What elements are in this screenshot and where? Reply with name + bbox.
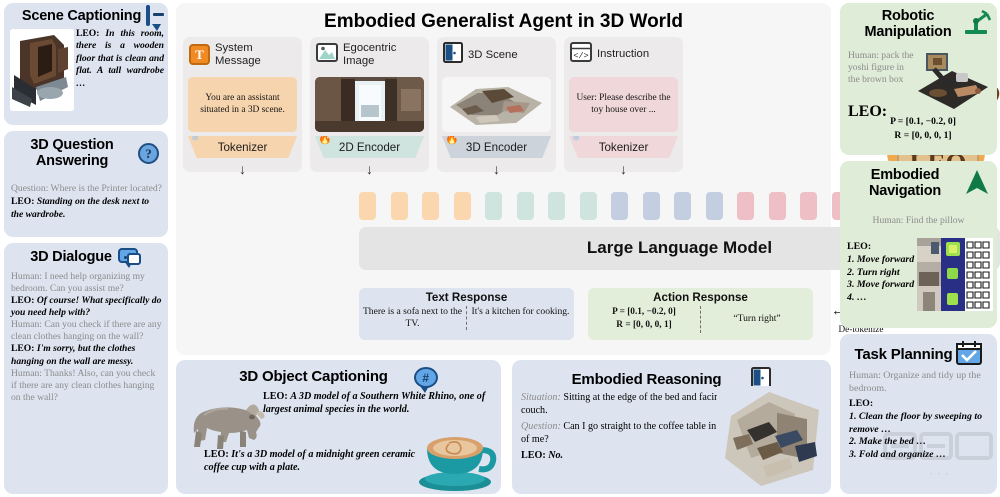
panel-3d-object-captioning: 3D Object Captioning # LEO: A 3D model o… <box>176 360 501 494</box>
token-chip <box>580 192 597 220</box>
dialogue-turns: Human: I need help organizing my bedroom… <box>11 271 163 404</box>
chat-bubble-icon <box>146 7 150 25</box>
encoder-label: Tokenizer <box>218 141 268 154</box>
input-card-instruction: </> Instruction User: Please describe th… <box>564 37 683 172</box>
panel-task-planning: Task Planning Human: Organize and tidy u… <box>840 334 997 494</box>
object-captioning-header: 3D Object Captioning # <box>176 367 501 388</box>
leo-prefix: LEO: <box>263 391 288 402</box>
encoder-tokenizer: ❄ Tokenizer <box>188 136 297 158</box>
leo-prefix: LEO: <box>76 28 99 39</box>
token-chip <box>769 192 786 220</box>
robotic-p: P = [0.1, −0.2, 0] <box>858 115 988 129</box>
dialogue-header: 3D Dialogue <box>4 248 168 267</box>
robotic-human-instruction: Human: pack the yoshi figure in the brow… <box>848 50 916 87</box>
card-header: </> Instruction <box>564 37 683 67</box>
card-label: System Message <box>215 42 297 67</box>
navigation-human-instruction: Human: Find the pillow <box>840 215 997 226</box>
card-label: 3D Scene <box>468 49 518 62</box>
letter-t-icon: T <box>189 44 210 65</box>
panel-title: 3D Object Captioning <box>239 369 388 386</box>
task-planning-header: Task Planning <box>840 340 997 370</box>
encoder-2d: 🔥 2D Encoder <box>315 136 424 158</box>
turn-speaker: LEO: <box>11 343 37 354</box>
token-chip <box>674 192 691 220</box>
card-content-image <box>315 77 424 132</box>
flow-arrow-icon: ↓ <box>310 161 429 177</box>
answer-line: LEO: No. <box>521 449 743 462</box>
room-scan-thumbnail <box>717 386 829 492</box>
flow-arrow-icon: ↓ <box>437 161 556 177</box>
dialogue-turn: Human: Can you check if there are any cl… <box>11 319 163 343</box>
robot-arm-photo <box>914 47 992 111</box>
embodied-reasoning-body: Situation: Sitting at the edge of the be… <box>521 391 743 463</box>
leo-prefix: LEO: <box>849 398 991 411</box>
token-chip <box>517 192 534 220</box>
card-content-pointcloud <box>442 77 551 132</box>
flame-icon: 🔥 <box>445 132 459 145</box>
left-column: Scene Captioning L <box>0 0 172 497</box>
text-response-block: Text Response There is a sofa next to th… <box>359 288 574 340</box>
door-icon <box>443 42 463 68</box>
token-chip <box>391 192 408 220</box>
svg-text:</>: </> <box>573 51 588 61</box>
token-chip <box>737 192 754 220</box>
token-chip <box>485 192 502 220</box>
panel-3d-question-answering: 3D Question Answering ? Question: Where … <box>4 131 168 237</box>
image-icon <box>316 42 338 68</box>
encoder-label: Tokenizer <box>599 141 649 154</box>
token-chip <box>643 192 660 220</box>
page-title: Embodied Generalist Agent in 3D World <box>176 11 831 33</box>
leo-prefix: LEO: <box>204 449 229 460</box>
question-label: Question: <box>521 421 561 432</box>
card-content-text: User: Please describe the toy house over… <box>569 77 678 132</box>
card-header: Egocentric Image <box>310 37 429 68</box>
task-human-instruction: Human: Organize and tidy up the bedroom. <box>849 370 991 396</box>
action-r: R = [0, 0, 0, 1] <box>591 319 697 332</box>
caption-text: It's a 3D model of a midnight green cera… <box>204 449 415 473</box>
card-label: Instruction <box>597 48 649 61</box>
panel-scene-captioning: Scene Captioning L <box>4 3 168 125</box>
code-icon: </> <box>570 42 592 67</box>
watermark-overlay: · · · <box>879 428 999 486</box>
dialogue-turn: LEO: I'm sorry, but the clothes hanging … <box>11 343 163 367</box>
input-card-system-message: T System Message You are an assistant si… <box>183 37 302 172</box>
situation-line: Situation: Sitting at the edge of the be… <box>521 391 743 417</box>
text-response-title: Text Response <box>359 291 574 304</box>
figure-root: Scene Captioning L <box>0 0 1000 497</box>
dialogue-turn: Human: Thanks! Also, can you check if th… <box>11 368 163 404</box>
panel-title: Robotic Manipulation <box>844 8 972 40</box>
action-response-text: “Turn right” <box>700 306 813 333</box>
card-content-text: You are an assistant situated in a 3D sc… <box>188 77 297 132</box>
card-header: 3D Scene <box>437 37 556 68</box>
token-sequence <box>359 192 864 220</box>
panel-embodied-navigation: Embodied Navigation Human: Find the pill… <box>840 161 997 328</box>
encoder-label: 3D Encoder <box>466 141 527 154</box>
token-chip <box>548 192 565 220</box>
token-chip <box>800 192 817 220</box>
snowflake-icon: ❄ <box>191 133 199 144</box>
panel-title: Scene Captioning <box>22 8 141 24</box>
action-p: P = [0.1, −0.2, 0] <box>591 306 697 319</box>
encoder-tokenizer: ❄ Tokenizer <box>569 136 678 158</box>
answer-text: No. <box>548 450 563 461</box>
leo-prefix: LEO: <box>11 196 34 207</box>
card-header: T System Message <box>183 37 302 67</box>
token-chip <box>454 192 471 220</box>
dialogue-turn: LEO: Of course! What specifically do you… <box>11 295 163 319</box>
robotic-r: R = [0, 0, 0, 1] <box>858 129 988 143</box>
card-label: Egocentric Image <box>343 42 424 67</box>
caption-text: A 3D model of a Southern White Rhino, on… <box>263 391 485 415</box>
calendar-check-icon <box>956 340 982 370</box>
panel-title: Task Planning <box>855 347 953 364</box>
situation-label: Situation: <box>521 392 561 403</box>
input-card-3d-scene: 3D Scene 🔥 3D Encoder ↓ <box>437 37 556 172</box>
panel-3d-dialogue: 3D Dialogue Human: I need help organizin… <box>4 243 168 494</box>
token-chip <box>706 192 723 220</box>
panel-title: Embodied Reasoning <box>572 372 722 389</box>
flow-arrow-icon: ↓ <box>183 161 302 177</box>
panel-robotic-manipulation: Robotic Manipulation Human: pack the yos… <box>840 3 997 155</box>
token-chip <box>359 192 376 220</box>
text-response-right: It's a kitchen for cooking. <box>466 306 574 330</box>
dialogue-turn: Human: I need help organizing my bedroom… <box>11 271 163 295</box>
panel-title: 3D Dialogue <box>30 249 112 265</box>
panel-title: Embodied Navigation <box>844 167 966 199</box>
panel-embodied-reasoning: Embodied Reasoning Situation: Sitting at… <box>512 360 831 494</box>
panel-title: 3D Question Answering <box>10 137 134 169</box>
double-chat-bubble-icon <box>118 248 142 267</box>
encoder-label: 2D Encoder <box>339 141 400 154</box>
scene-captioning-text: LEO: In this room, there is a wooden flo… <box>76 28 164 90</box>
input-card-egocentric-image: Egocentric Image 🔥 2D Encod <box>310 37 429 172</box>
robot-arm-icon <box>961 10 991 41</box>
qa-body: Question: Where is the Printer located? … <box>11 183 163 221</box>
scene-captioning-header: Scene Captioning <box>4 7 168 25</box>
text-response-left: There is a sofa next to the TV. <box>359 306 466 330</box>
hash-bubble-icon: # <box>414 367 438 388</box>
flow-arrow-icon: ↓ <box>564 161 683 177</box>
navigation-arrow-icon <box>965 169 989 200</box>
token-chip <box>422 192 439 220</box>
rhino-thumbnail <box>182 389 268 451</box>
action-response-title: Action Response <box>588 291 813 304</box>
flame-icon: 🔥 <box>318 132 332 145</box>
leo-prefix: LEO: <box>521 450 546 461</box>
robotic-action-values: P = [0.1, −0.2, 0] R = [0, 0, 0, 1] <box>858 115 988 143</box>
turn-speaker: Human: <box>11 271 44 282</box>
snowflake-icon: ❄ <box>572 133 580 144</box>
question-mark-icon: ? <box>138 143 159 164</box>
question-line: Question: Can I go straight to the coffe… <box>521 420 743 446</box>
svg-text:· · ·: · · · <box>929 467 948 481</box>
turn-speaker: Human: <box>11 319 44 330</box>
qa-question: Question: Where is the Printer located? <box>11 183 163 195</box>
action-response-pose: P = [0.1, −0.2, 0] R = [0, 0, 0, 1] <box>588 306 700 333</box>
coffee-cup-thumbnail <box>413 426 497 492</box>
object-caption-1: LEO: A 3D model of a Southern White Rhin… <box>263 390 495 416</box>
object-caption-2: LEO: It's a 3D model of a midnight green… <box>204 448 436 474</box>
navigation-frames-thumbnail <box>917 238 993 311</box>
scene-thumbnail <box>10 29 74 111</box>
main-architecture-panel: Embodied Generalist Agent in 3D World T … <box>176 3 831 355</box>
turn-speaker: Human: <box>11 368 44 379</box>
token-chip <box>611 192 628 220</box>
encoder-3d: 🔥 3D Encoder <box>442 136 551 158</box>
action-response-block: Action Response P = [0.1, −0.2, 0] R = [… <box>588 288 813 340</box>
turn-speaker: LEO: <box>11 295 37 306</box>
